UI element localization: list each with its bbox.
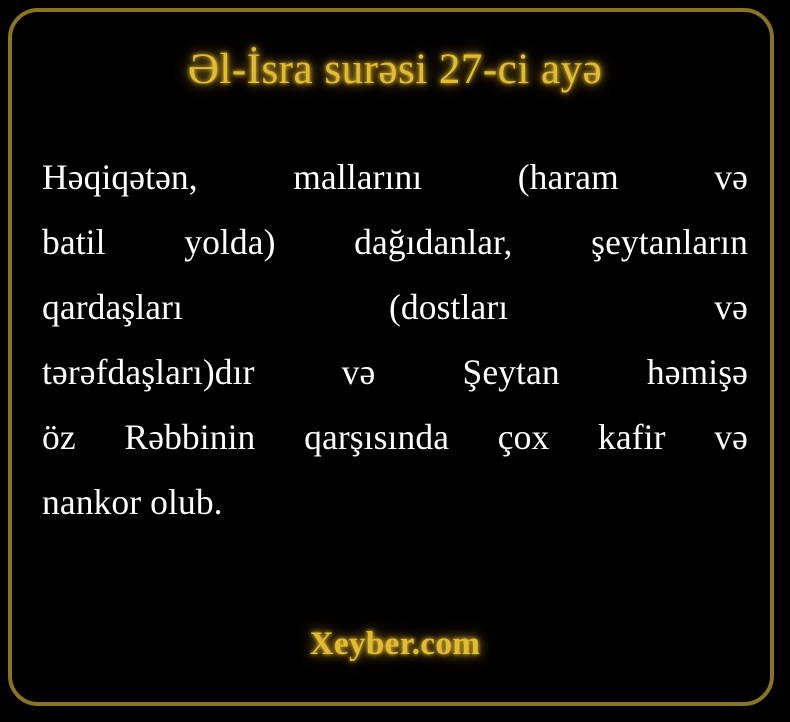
verse-line: qardaşları (dostları və (42, 275, 748, 340)
verse-line: nankor olub. (42, 470, 748, 535)
verse-card: Əl-İsra surəsi 27-ci ayə Həqiqətən, mall… (0, 0, 790, 722)
page-title: Əl-İsra surəsi 27-ci ayə (0, 44, 790, 96)
verse-text-block: Həqiqətən, mallarını (haram və batil yol… (42, 145, 748, 535)
site-watermark: Xeyber.com (0, 626, 790, 663)
verse-line: batil yolda) dağıdanlar, şeytanların (42, 210, 748, 275)
verse-line: tərəfdaşları)dır və Şeytan həmişə (42, 340, 748, 405)
verse-line: öz Rəbbinin qarşısında çox kafir və (42, 405, 748, 470)
verse-line: Həqiqətən, mallarını (haram və (42, 145, 748, 210)
